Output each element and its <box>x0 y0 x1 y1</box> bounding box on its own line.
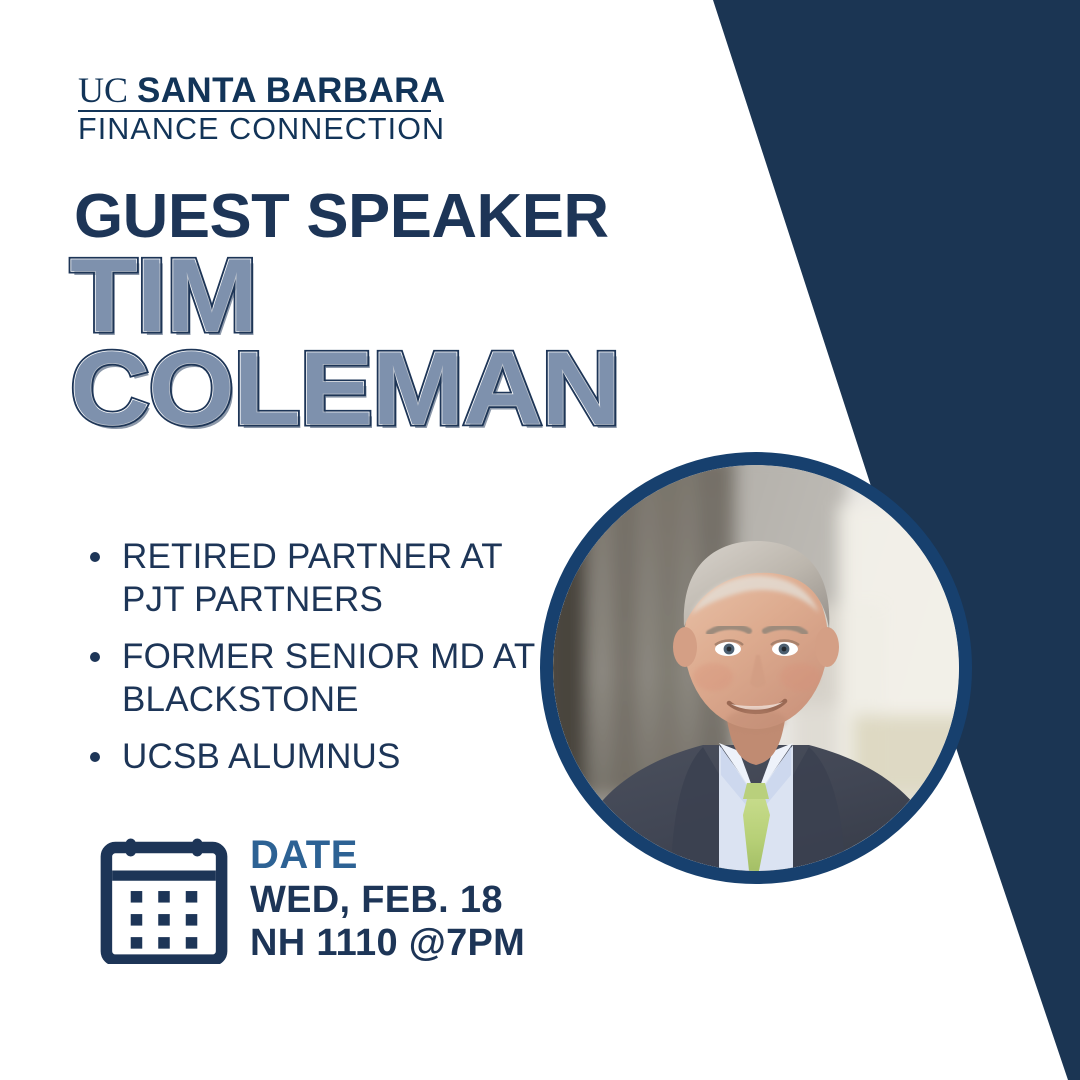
speaker-first-name: TIM <box>70 252 620 341</box>
speaker-bio-list: RETIRED PARTNER AT PJT PARTNERS FORMER S… <box>78 535 548 791</box>
bullet-dot-icon <box>90 552 100 562</box>
speaker-name: TIM COLEMAN <box>70 252 589 435</box>
event-flyer: UC SANTA BARBARA FINANCE CONNECTION GUES… <box>0 0 1080 1080</box>
logo-santa-barbara-text: SANTA BARBARA <box>137 73 446 108</box>
date-label: DATE <box>250 834 525 877</box>
speaker-photo <box>553 465 959 871</box>
logo-primary-line: UC SANTA BARBARA <box>78 72 446 108</box>
calendar-icon <box>100 836 228 964</box>
list-item-label: RETIRED PARTNER AT PJT PARTNERS <box>122 537 502 619</box>
bullet-dot-icon <box>90 652 100 662</box>
date-value: WED, FEB. 18 <box>250 880 525 921</box>
list-item: RETIRED PARTNER AT PJT PARTNERS <box>78 535 548 622</box>
list-item: FORMER SENIOR MD AT BLACKSTONE <box>78 635 548 722</box>
ucsb-finance-connection-logo: UC SANTA BARBARA FINANCE CONNECTION <box>78 72 446 145</box>
event-details-text: DATE WED, FEB. 18 NH 1110 @7PM <box>250 834 525 964</box>
event-details: DATE WED, FEB. 18 NH 1110 @7PM <box>100 830 525 964</box>
speaker-last-name: COLEMAN <box>70 345 620 434</box>
logo-uc-text: UC <box>78 72 128 108</box>
bullet-dot-icon <box>90 752 100 762</box>
speaker-portrait <box>540 452 972 884</box>
logo-org-text: FINANCE CONNECTION <box>78 114 446 145</box>
list-item-label: FORMER SENIOR MD AT BLACKSTONE <box>122 637 535 719</box>
event-location: NH 1110 @7PM <box>250 923 525 964</box>
list-item-label: UCSB ALUMNUS <box>122 737 401 776</box>
list-item: UCSB ALUMNUS <box>78 735 548 778</box>
